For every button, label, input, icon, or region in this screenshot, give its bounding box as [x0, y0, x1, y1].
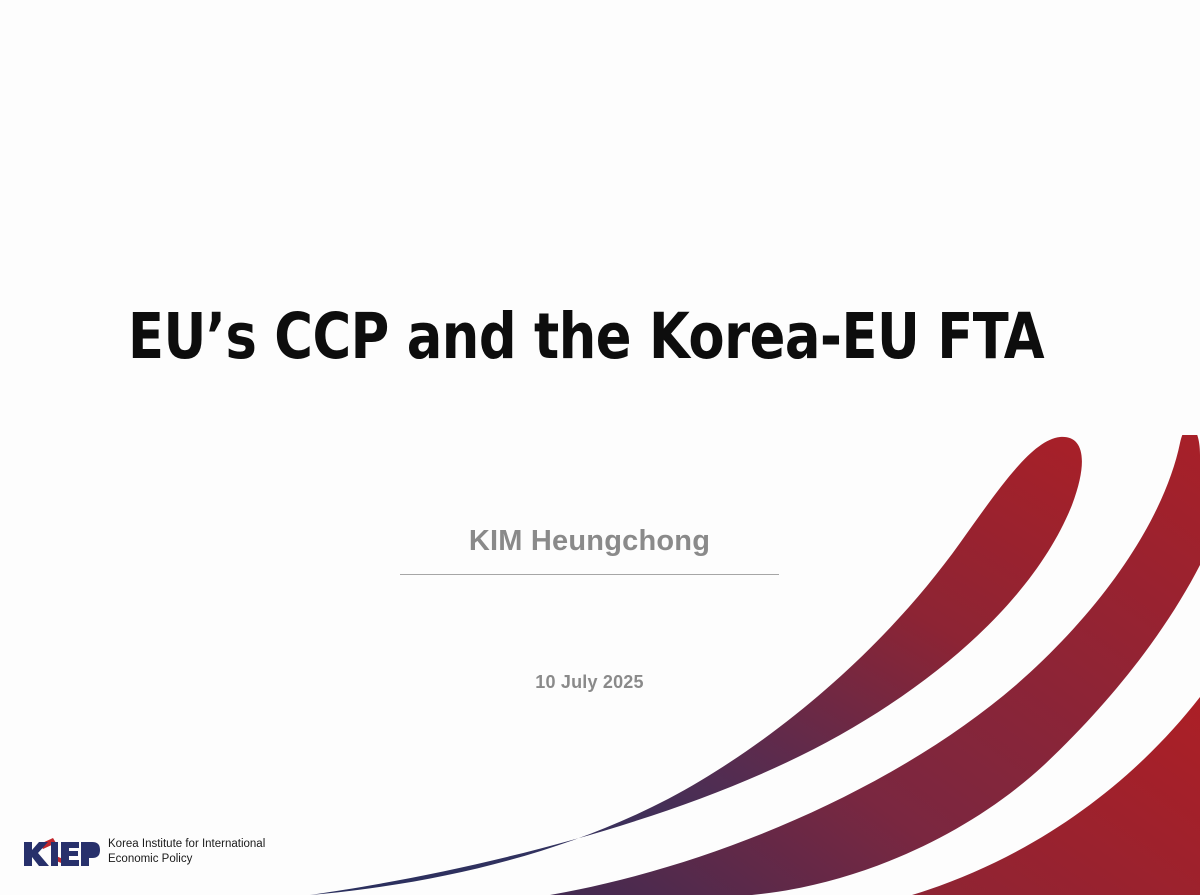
ribbon-svg [300, 435, 1200, 895]
author-divider [400, 574, 779, 575]
author-name: KIM Heungchong [400, 524, 779, 559]
page-title: EU’s CCP and the Korea-EU FTA [128, 300, 1044, 373]
logo-org-line-2: Economic Policy [108, 852, 265, 867]
title-slide: EU’s CCP and the Korea-EU FTA KIM Heungc… [0, 0, 1200, 895]
logo-letter-e [61, 842, 79, 866]
ribbon-band-3 [912, 697, 1200, 895]
gradient-ribbon-decoration [300, 435, 1200, 895]
logo-org-line-1: Korea Institute for International [108, 837, 265, 852]
author-block: KIM Heungchong [400, 524, 779, 575]
presentation-date: 10 July 2025 [400, 672, 779, 693]
kiep-wordmark-icon [22, 836, 100, 868]
ribbon-band-2 [550, 435, 1200, 895]
logo-letter-p [81, 842, 100, 866]
kiep-logo-svg [22, 836, 100, 868]
ribbon-band-1 [310, 437, 1082, 895]
logo-org-name: Korea Institute for International Econom… [108, 837, 265, 866]
logo-letter-i [51, 842, 58, 866]
kiep-logo: Korea Institute for International Econom… [22, 836, 265, 868]
